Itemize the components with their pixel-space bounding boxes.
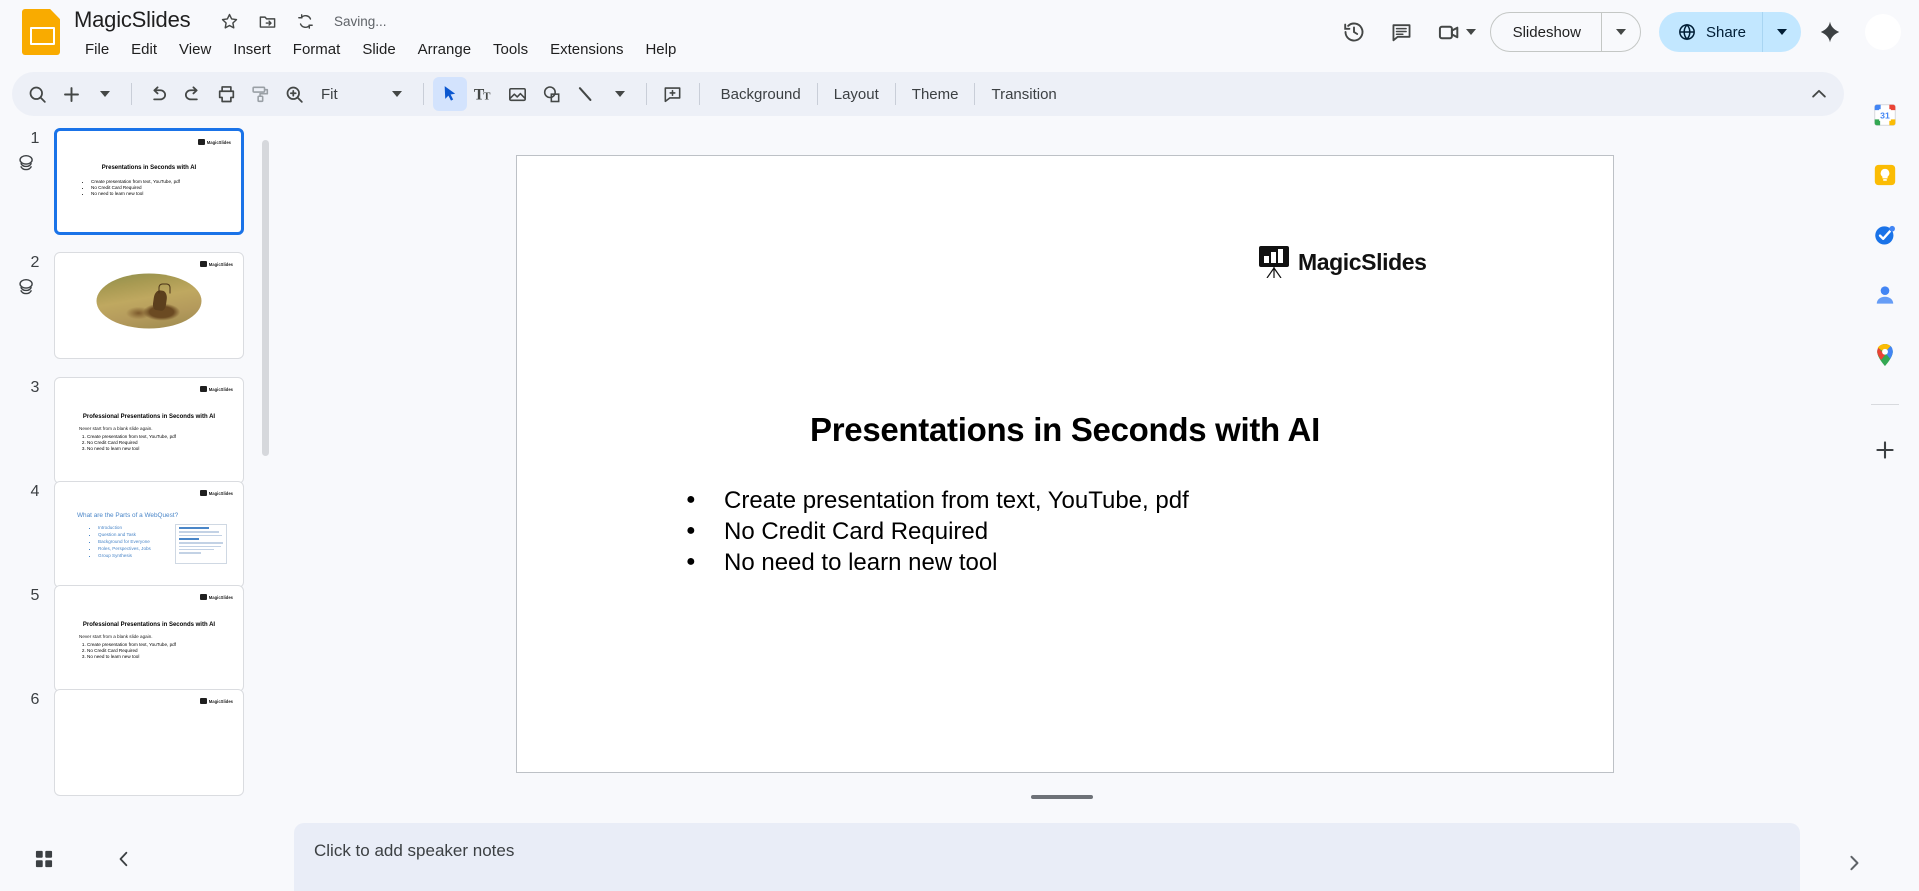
magicslides-logo: MagicSlides — [1259, 246, 1427, 278]
slide-number: 4 — [24, 483, 46, 501]
add-addon-icon[interactable] — [1868, 433, 1902, 467]
line-icon[interactable] — [569, 77, 603, 111]
zoom-level-value[interactable]: Fit — [311, 86, 346, 103]
collapse-toolbar-chevron-up-icon[interactable] — [1802, 77, 1836, 111]
main-toolbar: Fit T T — [12, 72, 1844, 116]
slide-thumbnail[interactable]: MagicSlides — [54, 252, 244, 359]
menu-help[interactable]: Help — [634, 37, 687, 63]
share-chevron-down-icon[interactable] — [1763, 12, 1801, 52]
slide-bullet: No need to learn new tool — [677, 548, 1189, 578]
slide-thumbnail[interactable]: MagicSlides Professional Presentations i… — [54, 377, 244, 484]
svg-text:T: T — [483, 91, 491, 103]
mini-magicslides-logo: MagicSlides — [198, 139, 231, 145]
redo-icon[interactable] — [175, 77, 209, 111]
slideshow-label[interactable]: Slideshow — [1491, 13, 1601, 51]
grid-view-icon[interactable] — [22, 837, 66, 881]
toolbar-divider-2 — [423, 83, 424, 105]
mini-slide-title: Professional Presentations in Seconds wi… — [55, 622, 243, 628]
google-apps-side-panel: 31 — [1851, 68, 1919, 891]
filmstrip-slide-5[interactable]: 5 MagicSlides Professional Presentations… — [0, 583, 286, 687]
app-header: MagicSlides Saving... — [0, 0, 1919, 68]
slide-number: 6 — [24, 691, 46, 709]
slide-title[interactable]: Presentations in Seconds with AI — [517, 411, 1613, 449]
google-maps-icon[interactable] — [1868, 338, 1902, 372]
globe-icon — [1677, 22, 1697, 42]
add-comment-icon[interactable] — [656, 77, 690, 111]
shape-icon[interactable] — [535, 77, 569, 111]
menu-extensions[interactable]: Extensions — [539, 37, 634, 63]
google-calendar-icon[interactable]: 31 — [1868, 98, 1902, 132]
slideshow-chevron-down-icon[interactable] — [1602, 13, 1640, 51]
google-keep-icon[interactable] — [1868, 158, 1902, 192]
slide-canvas-area[interactable]: MagicSlides Presentations in Seconds wit… — [286, 126, 1851, 786]
user-avatar[interactable] — [1865, 14, 1901, 50]
title-icon-group: Saving... — [218, 10, 387, 32]
slide-body-list[interactable]: Create presentation from text, YouTube, … — [677, 486, 1189, 579]
svg-text:31: 31 — [1880, 110, 1890, 120]
slide-image-deer — [97, 274, 202, 329]
google-slides-app: MagicSlides Saving... — [0, 0, 1919, 891]
mini-magicslides-logo: MagicSlides — [200, 594, 233, 600]
mini-slide-title: Presentations in Seconds with AI — [57, 165, 241, 171]
undo-icon[interactable] — [141, 77, 175, 111]
slide-thumbnail[interactable]: MagicSlides — [54, 689, 244, 796]
move-to-folder-icon[interactable] — [256, 10, 278, 32]
slideshow-button[interactable]: Slideshow — [1490, 12, 1641, 52]
toolbar-divider-5 — [817, 83, 818, 105]
zoom-icon[interactable] — [277, 77, 311, 111]
mini-slide-bullets: Create presentation from text, YouTube, … — [79, 434, 176, 453]
mini-slide-bullets: Create presentation from text, YouTube, … — [83, 179, 180, 198]
mini-magicslides-logo: MagicSlides — [200, 261, 233, 267]
mini-magicslides-logo: MagicSlides — [200, 386, 233, 392]
toolbar-divider-3 — [646, 83, 647, 105]
filmstrip-slide-2[interactable]: 2 MagicSlides — [0, 250, 286, 375]
paint-format-icon[interactable] — [243, 77, 277, 111]
slide-thumbnail[interactable]: MagicSlides What are the Parts of a WebQ… — [54, 481, 244, 588]
toolbar-divider-6 — [895, 83, 896, 105]
menu-edit[interactable]: Edit — [120, 37, 168, 63]
filmstrip-slide-3[interactable]: 3 MagicSlides Professional Presentations… — [0, 375, 286, 479]
new-slide-button[interactable] — [54, 77, 88, 111]
share-button[interactable]: Share — [1659, 12, 1801, 52]
cloud-sync-icon[interactable] — [294, 10, 316, 32]
menu-tools[interactable]: Tools — [482, 37, 539, 63]
document-title[interactable]: MagicSlides — [74, 6, 190, 34]
skip-slide-layers-icon[interactable] — [16, 152, 38, 179]
magicslides-logo-text: MagicSlides — [1298, 249, 1427, 276]
line-chevron-down-icon[interactable] — [603, 77, 637, 111]
version-history-icon[interactable] — [1330, 10, 1378, 54]
filmstrip-slide-4[interactable]: 4 MagicSlides What are the Parts of a We… — [0, 479, 286, 583]
google-meet-button[interactable] — [1426, 10, 1480, 54]
comment-icon[interactable] — [1378, 10, 1426, 54]
mini-slide-subtitle: Never start from a blank slide again. — [79, 426, 153, 432]
menu-insert[interactable]: Insert — [222, 37, 282, 63]
image-icon[interactable] — [501, 77, 535, 111]
slide-bullet: No Credit Card Required — [677, 517, 1189, 547]
filmstrip-footer — [0, 826, 286, 891]
layout-button[interactable]: Layout — [822, 78, 891, 110]
mini-slide-subtitle: Never start from a blank slide again. — [79, 634, 153, 640]
filmstrip-scrollbar[interactable] — [262, 140, 269, 456]
slide-bullet: Create presentation from text, YouTube, … — [677, 486, 1189, 516]
text-box-icon[interactable]: T T — [467, 77, 501, 111]
slide-number: 5 — [24, 587, 46, 605]
star-icon[interactable] — [218, 10, 240, 32]
share-main[interactable]: Share — [1659, 12, 1762, 52]
search-icon[interactable] — [20, 77, 54, 111]
header-actions: Slideshow Share — [1330, 6, 1905, 58]
filmstrip-slide-1[interactable]: 1 MagicSlides Presentations in Seconds w… — [0, 126, 286, 250]
mini-slide-title: Professional Presentations in Seconds wi… — [55, 414, 243, 420]
google-tasks-icon[interactable] — [1868, 218, 1902, 252]
mini-slide-bullets: Introduction Question and Task Backgroun… — [89, 524, 151, 559]
share-label: Share — [1706, 24, 1746, 41]
toolbar-divider-4 — [699, 83, 700, 105]
google-slides-logo-icon[interactable] — [22, 9, 64, 55]
save-status: Saving... — [334, 14, 387, 29]
slide-thumbnail[interactable]: MagicSlides Presentations in Seconds wit… — [54, 128, 244, 235]
speaker-notes-panel[interactable]: Click to add speaker notes — [294, 823, 1800, 891]
menu-file[interactable]: File — [74, 37, 120, 63]
mini-slide-bullets: Create presentation from text, YouTube, … — [79, 642, 176, 661]
toolbar-divider-7 — [974, 83, 975, 105]
new-slide-chevron-down-icon[interactable] — [88, 77, 122, 111]
theme-button[interactable]: Theme — [900, 78, 971, 110]
transition-button[interactable]: Transition — [979, 78, 1068, 110]
mini-magicslides-logo: MagicSlides — [200, 490, 233, 496]
google-contacts-icon[interactable] — [1868, 278, 1902, 312]
slide-thumbnail[interactable]: MagicSlides Professional Presentations i… — [54, 585, 244, 692]
toolbar-divider — [131, 83, 132, 105]
zoom-chevron-down-icon[interactable] — [380, 77, 414, 111]
speaker-notes-placeholder: Click to add speaker notes — [314, 841, 514, 861]
collapse-filmstrip-chevron-left-icon[interactable] — [102, 837, 146, 881]
filmstrip-slide-6[interactable]: 6 MagicSlides — [0, 687, 286, 791]
notes-resize-handle[interactable] — [1031, 795, 1093, 799]
side-panel-divider — [1871, 404, 1899, 405]
slide-number: 2 — [24, 254, 46, 272]
current-slide[interactable]: MagicSlides Presentations in Seconds wit… — [516, 155, 1614, 773]
mini-slide-screenshot — [175, 524, 227, 564]
mini-magicslides-logo: MagicSlides — [200, 698, 233, 704]
select-tool-button[interactable] — [433, 77, 467, 111]
mini-slide-title: What are the Parts of a WebQuest? — [77, 512, 178, 519]
slide-number: 3 — [24, 379, 46, 397]
easel-chart-icon — [1259, 246, 1289, 278]
menu-format[interactable]: Format — [282, 37, 352, 63]
meet-chevron-down-icon[interactable] — [1466, 29, 1476, 35]
skip-slide-layers-icon[interactable] — [16, 276, 38, 303]
gemini-sparkle-icon[interactable] — [1807, 10, 1853, 54]
slide-filmstrip[interactable]: 1 MagicSlides Presentations in Seconds w… — [0, 126, 286, 826]
background-button[interactable]: Background — [709, 78, 813, 110]
menu-bar: File Edit View Insert Format Slide Arran… — [74, 37, 687, 63]
menu-view[interactable]: View — [168, 37, 222, 63]
menu-slide[interactable]: Slide — [351, 37, 406, 63]
slide-number: 1 — [24, 130, 46, 148]
print-icon[interactable] — [209, 77, 243, 111]
menu-arrange[interactable]: Arrange — [407, 37, 482, 63]
